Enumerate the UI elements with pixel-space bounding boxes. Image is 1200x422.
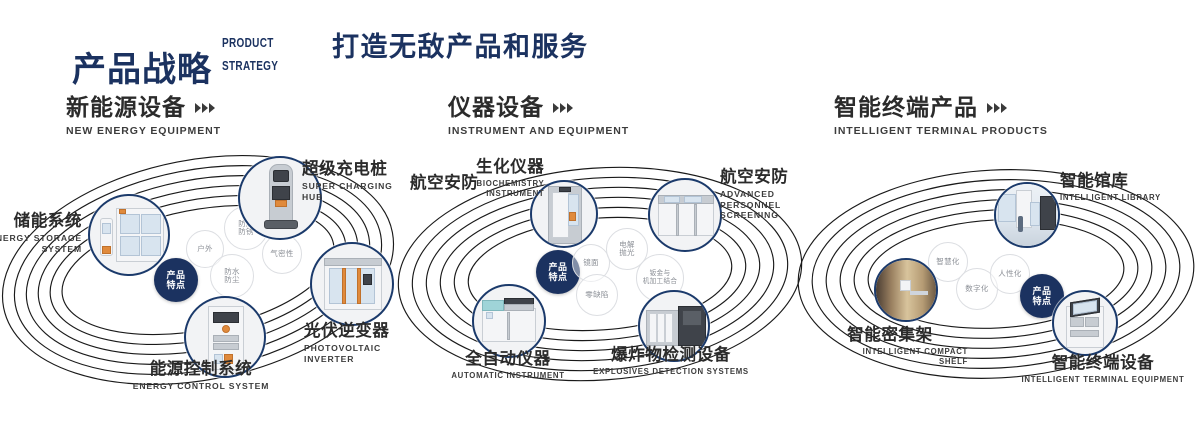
core-line2: 特点 [1032,296,1051,306]
label-cn: 智能馆库 [1060,172,1161,191]
label-photovoltaic-inverter: 光伏逆变器 PHOTOVOLTAIC INVERTER [304,322,402,364]
label-en: ENERGY STORAGE SYSTEM [0,233,82,254]
product-strategy-infographic: 产品战略 PRODUCT STRATEGY 打造无敌产品和服务 新能源设备 NE… [0,0,1200,422]
panel-new-energy-equipment: 产品特点 户外 防腐 防锈 防水 防尘 气密性 储能系统 ENERGY STOR… [2,150,402,406]
panel-instrument-and-equipment: 产品特点 镜面 电解 抛光 零缺陷 钣金与 机加工结合 生化仪器 BIOCHEM… [400,150,800,406]
section-title-cn: 新能源设备 [66,96,186,119]
label-cn: 航空安防 [410,174,478,193]
label-cn: 全自动仪器 [424,350,592,369]
section-title-cn: 智能终端产品 [834,96,978,119]
label-en: INTELLIGENT TERMINAL EQUIPMENT [1008,375,1198,385]
label-energy-control-system: 能源控制系统 ENERGY CONTROL SYSTEM [86,360,316,392]
label-en: ENERGY CONTROL SYSTEM [86,381,316,392]
section-title-en: INSTRUMENT AND EQUIPMENT [448,125,629,137]
section-title-en: NEW ENERGY EQUIPMENT [66,125,221,137]
label-energy-storage-system: 储能系统 ENERGY STORAGE SYSTEM [0,212,82,254]
page-title-cn: 产品战略 [72,53,212,87]
section-title-instrument: 仪器设备 INSTRUMENT AND EQUIPMENT [448,96,629,137]
section-title-intelligent-terminal: 智能终端产品 INTELLIGENT TERMINAL PRODUCTS [834,96,1048,137]
triple-chevron-right-icon [195,103,215,113]
label-aviation-security: 航空安防 [410,174,478,193]
triple-chevron-right-icon [553,103,573,113]
label-cn: 储能系统 [0,212,82,231]
panel-intelligent-terminal-products: 智慧化 数字化 人性化 产品特点 智能馆库 INTELLIGENT LIBRAR… [798,150,1198,406]
feature-bubble: 零缺陷 [576,274,618,316]
label-en: EXPLOSIVES DETECTION SYSTEMS [586,367,756,377]
node-intelligent-library[interactable] [994,182,1060,248]
label-en: SUPER CHARGING HUB [302,181,402,202]
label-intelligent-compact-shelf: 智能密集架 INTELLIGENT COMPACT SHELF [790,326,990,366]
label-advanced-personnel-screening: 航空安防 ADVANCED PERSONNEL SCREENING [720,168,800,221]
page-title-en: PRODUCT STRATEGY [222,26,278,87]
node-intelligent-terminal-equipment[interactable] [1052,290,1118,356]
label-cn: 智能密集架 [790,326,990,345]
label-en: PHOTOVOLTAIC INVERTER [304,343,402,364]
label-explosives-detection-systems: 爆炸物检测设备 EXPLOSIVES DETECTION SYSTEMS [586,346,756,377]
page-title: 产品战略 PRODUCT STRATEGY [72,26,292,87]
label-intelligent-terminal-equipment: 智能终端设备 INTELLIGENT TERMINAL EQUIPMENT [1008,354,1198,385]
feature-bubble: 气密性 [262,234,302,274]
page-title-en-line2: STRATEGY [222,61,278,73]
label-cn: 爆炸物检测设备 [586,346,756,365]
page-slogan: 打造无敌产品和服务 [332,34,589,61]
section-title-en: INTELLIGENT TERMINAL PRODUCTS [834,125,1048,137]
core-line1: 产品 [1032,286,1051,296]
label-en: ADVANCED PERSONNEL SCREENING [720,189,800,221]
label-cn: 能源控制系统 [86,360,316,379]
label-cn: 生化仪器 [476,158,544,177]
node-automatic-instrument[interactable] [472,284,546,358]
label-en: INTELLIGENT COMPACT SHELF [790,347,990,366]
label-cn: 超级充电桩 [302,160,402,179]
core-line1: 产品 [548,262,567,272]
label-cn: 光伏逆变器 [304,322,402,341]
node-intelligent-compact-shelf[interactable] [874,258,938,322]
label-en: INTELLIGENT LIBRARY [1060,193,1161,203]
label-super-charging-hub: 超级充电桩 SUPER CHARGING HUB [302,160,402,202]
node-photovoltaic-inverter[interactable] [310,242,394,326]
label-automatic-instrument: 全自动仪器 AUTOMATIC INSTRUMENT [424,350,592,381]
core-line1: 产品 [166,270,185,280]
page-title-en-line1: PRODUCT [222,38,278,50]
core-line2: 特点 [548,272,567,282]
label-en: BIOCHEMISTRY INSTRUMENT [476,179,544,198]
label-cn: 航空安防 [720,168,800,187]
label-biochemistry-instrument: 生化仪器 BIOCHEMISTRY INSTRUMENT [476,158,544,198]
label-intelligent-library: 智能馆库 INTELLIGENT LIBRARY [1060,172,1161,203]
section-title-new-energy: 新能源设备 NEW ENERGY EQUIPMENT [66,96,221,137]
node-energy-storage-system[interactable] [88,194,170,276]
label-en: AUTOMATIC INSTRUMENT [424,371,592,381]
feature-bubble: 防水 防尘 [210,254,254,298]
section-title-cn: 仪器设备 [448,96,544,119]
core-line2: 特点 [166,280,185,290]
node-advanced-personnel-screening[interactable] [648,178,722,252]
triple-chevron-right-icon [987,103,1007,113]
label-cn: 智能终端设备 [1008,354,1198,373]
